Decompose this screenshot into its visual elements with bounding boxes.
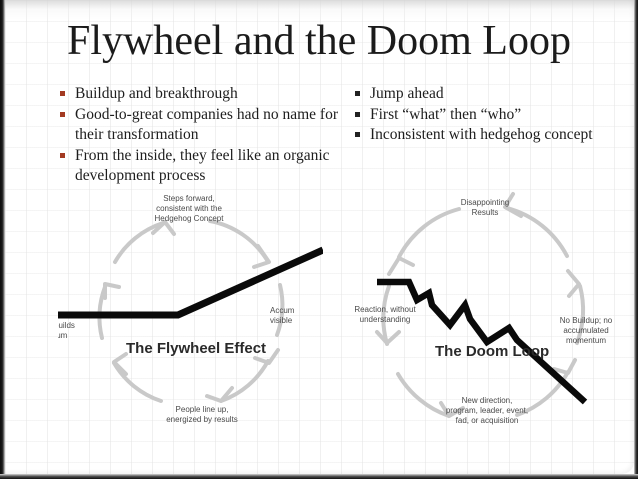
doomloop-label-right: No Buildup; no accumulated momentum — [542, 316, 629, 346]
arrowhead-top-left — [389, 258, 413, 274]
bullet-square-icon — [355, 132, 360, 137]
flywheel-center-title: The Flywheel Effect — [126, 340, 266, 357]
arrowhead-left — [105, 284, 119, 298]
bullet-square-icon — [355, 91, 360, 96]
list-item-label: First “what” then “who” — [370, 106, 521, 123]
arrowhead-left — [377, 332, 399, 343]
arrowhead-top-right — [254, 246, 269, 267]
bullet-square-icon — [60, 153, 65, 158]
bullet-list-right: Jump ahead First “what” then “who” Incon… — [353, 84, 623, 146]
bullet-square-icon — [60, 112, 65, 117]
doom-loop-diagram: Disappointing Results No Buildup; no acc… — [337, 188, 629, 440]
doomloop-label-left: Reaction, without understanding — [339, 305, 431, 325]
slide-bottom-edge — [0, 474, 638, 479]
list-item-label: From the inside, they feel like an organ… — [75, 147, 330, 185]
arc-top-right — [210, 221, 267, 260]
slide-frame: Flywheel and the Doom Loop Buildup and b… — [0, 0, 638, 479]
doomloop-label-top: Disappointing Results — [430, 198, 540, 218]
flywheel-label-bottom: People line up, energized by results — [142, 405, 262, 425]
bullet-list-left: Buildup and breakthrough Good-to-great c… — [58, 84, 338, 187]
bullet-square-icon — [60, 91, 65, 96]
flywheel-label-top: Steps forward, consistent with the Hedge… — [130, 194, 248, 224]
list-item: Good-to-great companies had no name for … — [58, 105, 338, 146]
flywheel-label-right: Accum visible — [270, 306, 323, 326]
list-item-label: Inconsistent with hedgehog concept — [370, 126, 593, 143]
list-item-label: Buildup and breakthrough — [75, 85, 238, 102]
bullet-square-icon — [355, 112, 360, 117]
doomloop-center-title: The Doom Loop — [435, 343, 549, 360]
doomloop-label-bottom: New direction, program, leader, event, f… — [421, 396, 553, 426]
list-item: Buildup and breakthrough — [58, 84, 338, 105]
arrowhead-right — [568, 271, 579, 296]
slide-content: Flywheel and the Doom Loop Buildup and b… — [0, 0, 638, 479]
arrowhead-bottom-right — [554, 360, 575, 373]
list-item-label: Jump ahead — [370, 85, 444, 102]
flywheel-effect-diagram: Steps forward, consistent with the Hedge… — [58, 188, 323, 440]
list-item-label: Good-to-great companies had no name for … — [75, 106, 338, 144]
flywheel-label-left: builds tum — [58, 321, 114, 341]
list-item: Inconsistent with hedgehog concept — [353, 125, 623, 146]
list-item: Jump ahead — [353, 84, 623, 105]
list-item: From the inside, they feel like an organ… — [58, 146, 338, 187]
page-title: Flywheel and the Doom Loop — [0, 16, 638, 66]
list-item: First “what” then “who” — [353, 105, 623, 126]
slide-right-edge — [634, 0, 638, 479]
slide-left-edge — [0, 0, 5, 479]
